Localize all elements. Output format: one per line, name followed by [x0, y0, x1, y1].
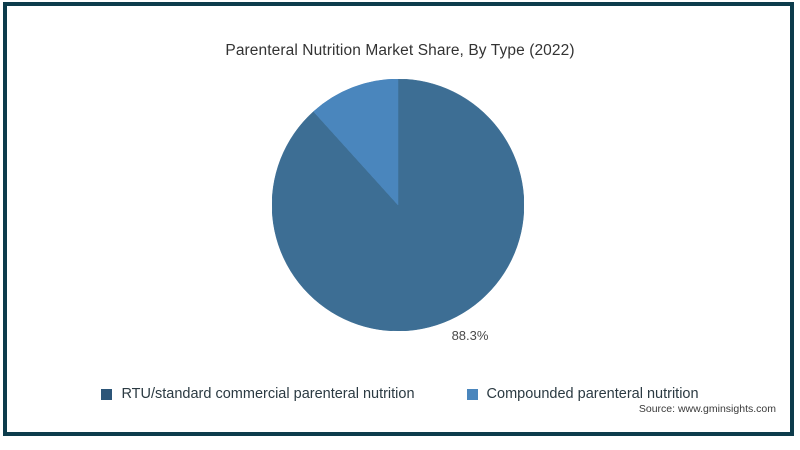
legend-item-compounded[interactable]: Compounded parenteral nutrition: [467, 386, 699, 402]
legend-item-label: RTU/standard commercial parenteral nutri…: [121, 386, 414, 402]
chart-legend: RTU/standard commercial parenteral nutri…: [0, 386, 800, 402]
chart-canvas: Parenteral Nutrition Market Share, By Ty…: [0, 0, 800, 450]
legend-item-label: Compounded parenteral nutrition: [487, 386, 699, 402]
pie-svg: [272, 79, 524, 331]
source-attribution: Source: www.gminsights.com: [639, 403, 776, 415]
pie-chart: [272, 79, 524, 331]
legend-swatch-icon: [467, 389, 478, 400]
pie-slice-value-label: 88.3%: [430, 328, 510, 343]
legend-swatch-icon: [101, 389, 112, 400]
legend-item-rtu-standard-commercial[interactable]: RTU/standard commercial parenteral nutri…: [101, 386, 414, 402]
chart-title: Parenteral Nutrition Market Share, By Ty…: [0, 42, 800, 60]
